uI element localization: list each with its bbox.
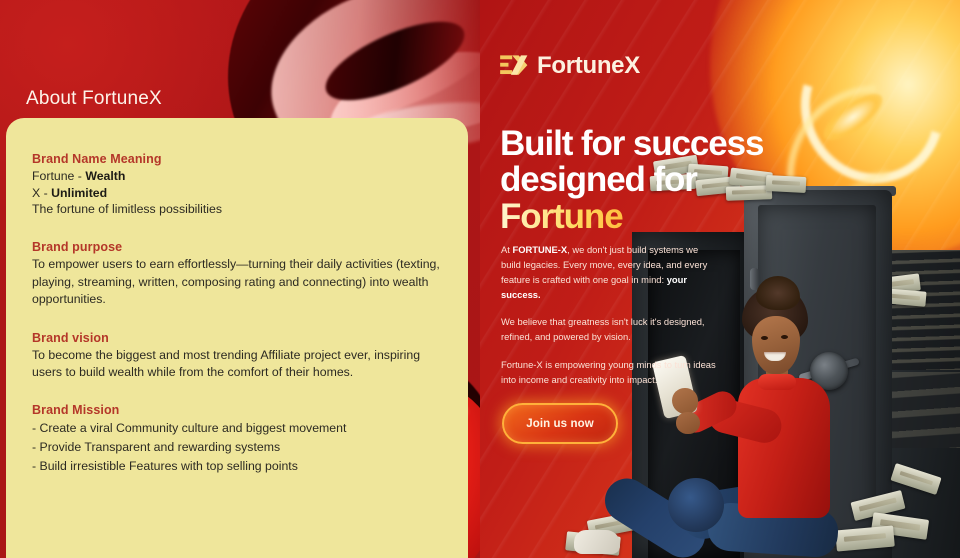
hero-body-copy: At FORTUNE-X, we don't just build system… <box>501 243 719 388</box>
join-us-now-button[interactable]: Join us now <box>502 403 618 444</box>
mission-bullet: - Build irresistible Features with top s… <box>32 457 442 476</box>
section-paragraph: To become the biggest and most trending … <box>32 347 442 382</box>
subject-shoe <box>574 530 620 554</box>
para-pre: At <box>501 244 512 255</box>
brand-logo[interactable]: FortuneX <box>500 52 640 80</box>
mission-bullet: - Provide Transparent and rewarding syst… <box>32 438 442 457</box>
section-heading: Brand Mission <box>32 403 442 417</box>
background-steps <box>886 372 960 448</box>
hero-paragraph-1: At FORTUNE-X, we don't just build system… <box>501 243 719 302</box>
headline-line-3-accent: Fortune <box>500 199 763 235</box>
page-title: About FortuneX <box>26 88 162 110</box>
subject-hand <box>672 388 698 414</box>
subject-hair-bun <box>756 276 800 310</box>
headline-line-2: designed for <box>500 162 763 198</box>
meaning-tagline: The fortune of limitless possibilities <box>32 201 442 218</box>
poster-canvas: About FortuneX Brand Name Meaning Fortun… <box>0 0 960 558</box>
mission-bullet: - Create a viral Community culture and b… <box>32 419 442 438</box>
about-panel: About FortuneX Brand Name Meaning Fortun… <box>0 0 480 558</box>
meaning-value: Wealth <box>85 169 125 183</box>
section-brand-purpose: Brand purpose To empower users to earn e… <box>32 240 442 308</box>
section-brand-mission: Brand Mission - Create a viral Community… <box>32 403 442 475</box>
about-content-card: Brand Name Meaning Fortune - Wealth X - … <box>6 118 468 558</box>
subject-collar <box>758 374 796 390</box>
subject-eye <box>781 335 788 339</box>
section-heading: Brand Name Meaning <box>32 152 442 166</box>
section-heading: Brand purpose <box>32 240 442 254</box>
fortunex-fx-monogram-icon <box>500 54 528 78</box>
subject-torso-red-top <box>738 378 830 518</box>
headline-line-1: Built for success <box>500 126 763 162</box>
hero-panel: FortuneX Built for success designed for … <box>480 0 960 558</box>
subject-eye <box>761 336 768 340</box>
join-us-now-label: Join us now <box>526 418 594 430</box>
cash-stack-icon <box>766 175 807 193</box>
section-brand-name-meaning: Brand Name Meaning Fortune - Wealth X - … <box>32 152 442 218</box>
hero-paragraph-3: Fortune-X is empowering young minds to t… <box>501 358 719 388</box>
meaning-label: Fortune - <box>32 169 85 183</box>
background-blinds <box>888 250 960 370</box>
section-heading: Brand vision <box>32 331 442 345</box>
section-brand-vision: Brand vision To become the biggest and m… <box>32 331 442 382</box>
hero-paragraph-2: We believe that greatness isn't luck it'… <box>501 315 719 345</box>
meaning-value: Unlimited <box>51 186 107 200</box>
golden-flame-leaf-icon <box>817 86 889 148</box>
subject-hand <box>676 412 700 434</box>
abstract-dark-swirl-icon <box>316 6 475 116</box>
section-paragraph: To empower users to earn effortlessly—tu… <box>32 256 442 308</box>
para-strong-brand: FORTUNE-X <box>512 244 567 255</box>
brand-name-text: FortuneX <box>537 52 640 80</box>
meaning-row: X - Unlimited <box>32 185 442 202</box>
subject-knee <box>668 478 724 532</box>
meaning-row: Fortune - Wealth <box>32 168 442 185</box>
meaning-label: X - <box>32 186 51 200</box>
hero-headline: Built for success designed for Fortune <box>500 126 763 235</box>
